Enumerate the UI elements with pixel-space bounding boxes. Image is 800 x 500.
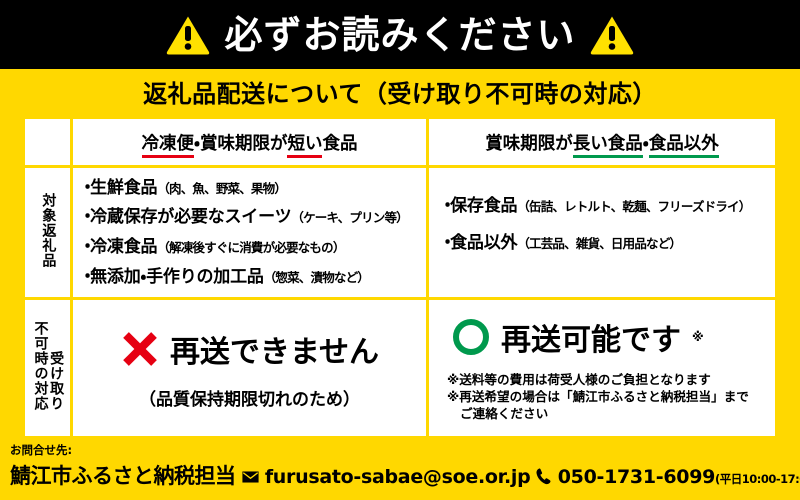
green-circle-mark-icon bbox=[451, 317, 491, 357]
right-response-notes: ※送料等の費用は荷受人様のご負担となります ※再送希望の場合は「鯖江市ふるさと納… bbox=[445, 371, 775, 422]
list-item-main: 無添加・手作りの加工品 bbox=[90, 267, 264, 287]
row-label-target-items: 対象返礼品 bbox=[24, 167, 72, 299]
right-response-superscript: ※ bbox=[692, 330, 704, 344]
row-label-response-col2: 不可時の対応 bbox=[32, 321, 48, 411]
notice-page: 必ずお読みください 返礼品配送について（受け取り不可時の対応） 冷凍便・賞味期限… bbox=[0, 0, 800, 500]
column-header-right-part-1: 賞味期限が bbox=[485, 134, 573, 154]
list-item-main: 冷蔵保存が必要なスイーツ bbox=[90, 207, 291, 227]
list-item-sub: （ケーキ、プリン等） bbox=[291, 210, 408, 225]
column-header-left-part-1: 冷凍便 bbox=[142, 134, 195, 158]
list-item-main: 生鮮食品 bbox=[90, 178, 157, 198]
subtitle: 返礼品配送について（受け取り不可時の対応） bbox=[0, 69, 800, 114]
list-item-sub: （惣菜、漬物など） bbox=[264, 270, 369, 285]
left-item-list: ・生鮮食品（肉、魚、野菜、果物） ・冷蔵保存が必要なスイーツ（ケーキ、プリン等）… bbox=[73, 172, 426, 294]
list-item-main: 保存食品 bbox=[450, 196, 517, 216]
row-label-response: 不可時の対応受け取り bbox=[24, 299, 72, 438]
telephone-icon bbox=[536, 468, 551, 485]
list-item: ・冷蔵保存が必要なスイーツ（ケーキ、プリン等） bbox=[85, 207, 418, 228]
left-response-note: （品質保持期限切れのため） bbox=[73, 385, 426, 410]
policy-table: 冷凍便・賞味期限が短い食品 賞味期限が長い食品・食品以外 対象返礼品 ・生鮮 bbox=[22, 116, 778, 436]
list-item-sub: （解凍後すぐに消費が必要なもの） bbox=[157, 240, 344, 255]
header-banner: 必ずお読みください bbox=[0, 0, 800, 69]
column-header-right-part-2: 長い食品 bbox=[573, 134, 643, 158]
note-line: ご連絡ください bbox=[447, 405, 775, 422]
cell-right-response: 再送可能です※ ※送料等の費用は荷受人様のご負担となります ※再送希望の場合は「… bbox=[428, 299, 777, 438]
column-header-right-part-4: 食品以外 bbox=[649, 134, 719, 158]
column-header-left-part-2: ・賞味期限が bbox=[194, 134, 287, 154]
right-response-main: 再送可能です※ bbox=[445, 315, 775, 359]
warning-triangle-icon bbox=[590, 15, 634, 55]
note-line: ※再送希望の場合は「鯖江市ふるさと納税担当」まで bbox=[447, 388, 775, 405]
left-response-main: 再送できません bbox=[73, 327, 426, 371]
list-item-main: 食品以外 bbox=[450, 233, 517, 253]
corner-cell bbox=[24, 118, 72, 167]
footer-label: お問合せ先: bbox=[10, 442, 790, 458]
footer-phone[interactable]: 050-1731-6099 bbox=[558, 466, 715, 488]
footer-hours: (平日10:00-17:00対応) bbox=[715, 472, 800, 486]
footer-contact-line: 鯖江市ふるさと納税担当 furusato-sabae@soe.or.jp 050… bbox=[10, 460, 790, 490]
column-header-right: 賞味期限が長い食品・食品以外 bbox=[428, 118, 777, 167]
footer-contact: お問合せ先: 鯖江市ふるさと納税担当 furusato-sabae@soe.or… bbox=[0, 437, 800, 500]
list-item: ・保存食品（缶詰、レトルト、乾麺、フリーズドライ） bbox=[445, 196, 767, 217]
right-response-text: 再送可能です bbox=[501, 315, 681, 359]
list-item: ・冷凍食品（解凍後すぐに消費が必要なもの） bbox=[85, 237, 418, 258]
column-header-left-part-3: 短い bbox=[287, 134, 322, 158]
page-title: 必ずお読みください bbox=[224, 16, 575, 54]
note-line: ※送料等の費用は荷受人様のご負担となります bbox=[447, 371, 775, 388]
list-item-sub: （缶詰、レトルト、乾麺、フリーズドライ） bbox=[517, 199, 750, 214]
row-label-target-items-text: 対象返礼品 bbox=[40, 193, 56, 268]
column-header-left-part-4: 食品 bbox=[322, 134, 357, 154]
cell-left-response: 再送できません （品質保持期限切れのため） bbox=[72, 299, 428, 438]
list-item-sub: （工芸品、雑貨、日用品など） bbox=[517, 236, 681, 251]
row-label-response-col1: 受け取り bbox=[48, 351, 64, 411]
envelope-icon bbox=[242, 470, 259, 484]
footer-email[interactable]: furusato-sabae@soe.or.jp bbox=[265, 466, 531, 488]
warning-triangle-icon bbox=[166, 15, 210, 55]
list-item: ・食品以外（工芸品、雑貨、日用品など） bbox=[445, 233, 767, 254]
table-row-target-items: 対象返礼品 ・生鮮食品（肉、魚、野菜、果物） ・冷蔵保存が必要なスイーツ（ケーキ… bbox=[24, 167, 777, 299]
table-header-row: 冷凍便・賞味期限が短い食品 賞味期限が長い食品・食品以外 bbox=[24, 118, 777, 167]
footer-phone-group: 050-1731-6099(平日10:00-17:00対応) bbox=[536, 466, 800, 488]
left-response-text: 再送できません bbox=[170, 327, 379, 371]
footer-department: 鯖江市ふるさと納税担当 bbox=[10, 460, 236, 490]
list-item-main: 冷凍食品 bbox=[90, 237, 157, 257]
list-item-sub: （肉、魚、野菜、果物） bbox=[157, 181, 286, 196]
list-item: ・無添加・手作りの加工品（惣菜、漬物など） bbox=[85, 267, 418, 288]
red-x-mark-icon bbox=[120, 329, 160, 369]
column-header-left: 冷凍便・賞味期限が短い食品 bbox=[72, 118, 428, 167]
list-item: ・生鮮食品（肉、魚、野菜、果物） bbox=[85, 178, 418, 199]
column-header-right-part-3: ・ bbox=[643, 134, 649, 154]
cell-left-items: ・生鮮食品（肉、魚、野菜、果物） ・冷蔵保存が必要なスイーツ（ケーキ、プリン等）… bbox=[72, 167, 428, 299]
table-row-response: 不可時の対応受け取り 再送できません （品質保持期限切れのため） bbox=[24, 299, 777, 438]
cell-right-items: ・保存食品（缶詰、レトルト、乾麺、フリーズドライ） ・食品以外（工芸品、雑貨、日… bbox=[428, 167, 777, 299]
right-item-list: ・保存食品（缶詰、レトルト、乾麺、フリーズドライ） ・食品以外（工芸品、雑貨、日… bbox=[429, 190, 775, 275]
footer-email-group: furusato-sabae@soe.or.jp bbox=[242, 466, 531, 488]
